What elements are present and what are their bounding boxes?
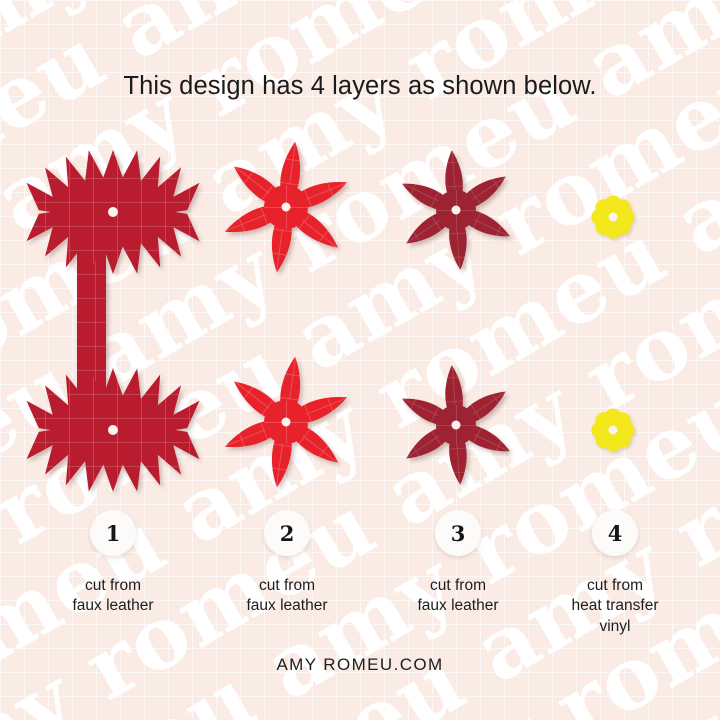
layer-number-badge-4: 4 [592,510,638,556]
layer-2-shape-six-petal-flower [198,130,378,500]
layer-caption-4: cut from heat transfer vinyl [530,576,700,637]
layer-number-badge-1: 1 [90,510,136,556]
layer-column-2 [198,130,378,500]
layer-number-badge-3: 3 [435,510,481,556]
legend-item-4: 4 cut from heat transfer vinyl [530,510,700,637]
layer-column-3 [368,130,548,500]
center-hole [609,213,618,222]
center-hole [282,418,291,427]
layer-3-shape-six-petal-flower [368,130,548,500]
caption-line: cut from [530,576,700,596]
caption-line: cut from [373,576,543,596]
caption-line: cut from [28,576,198,596]
caption-line: cut from [202,576,372,596]
caption-line: faux leather [28,596,198,616]
caption-line: vinyl [530,617,700,637]
layer-column-4 [528,130,708,500]
center-hole [108,207,118,217]
layer-caption-3: cut from faux leather [373,576,543,617]
layer-caption-1: cut from faux leather [28,576,198,617]
site-footer: AMY ROMEU.COM [0,655,720,675]
center-hole [282,203,291,212]
center-hole [452,206,461,215]
legend-item-2: 2 cut from faux leather [202,510,372,617]
layer-1-shape-starburst-flower-with-stem [23,130,203,500]
design-preview-canvas: amy romeu amy romeu amy romeu amy romeu … [0,0,720,720]
center-hole [452,421,461,430]
page-title: This design has 4 layers as shown below. [0,72,720,101]
layer-column-1 [23,130,203,500]
layer-4-shape-small-rounded-flower [528,130,708,500]
center-hole [609,426,618,435]
legend-item-3: 3 cut from faux leather [373,510,543,617]
caption-line: heat transfer [530,596,700,616]
legend-item-1: 1 cut from faux leather [28,510,198,617]
center-hole [108,425,118,435]
caption-line: faux leather [202,596,372,616]
caption-line: faux leather [373,596,543,616]
layer-number-badge-2: 2 [264,510,310,556]
layer-caption-2: cut from faux leather [202,576,372,617]
layer-legend: 1 cut from faux leather 2 cut from faux … [0,510,720,640]
